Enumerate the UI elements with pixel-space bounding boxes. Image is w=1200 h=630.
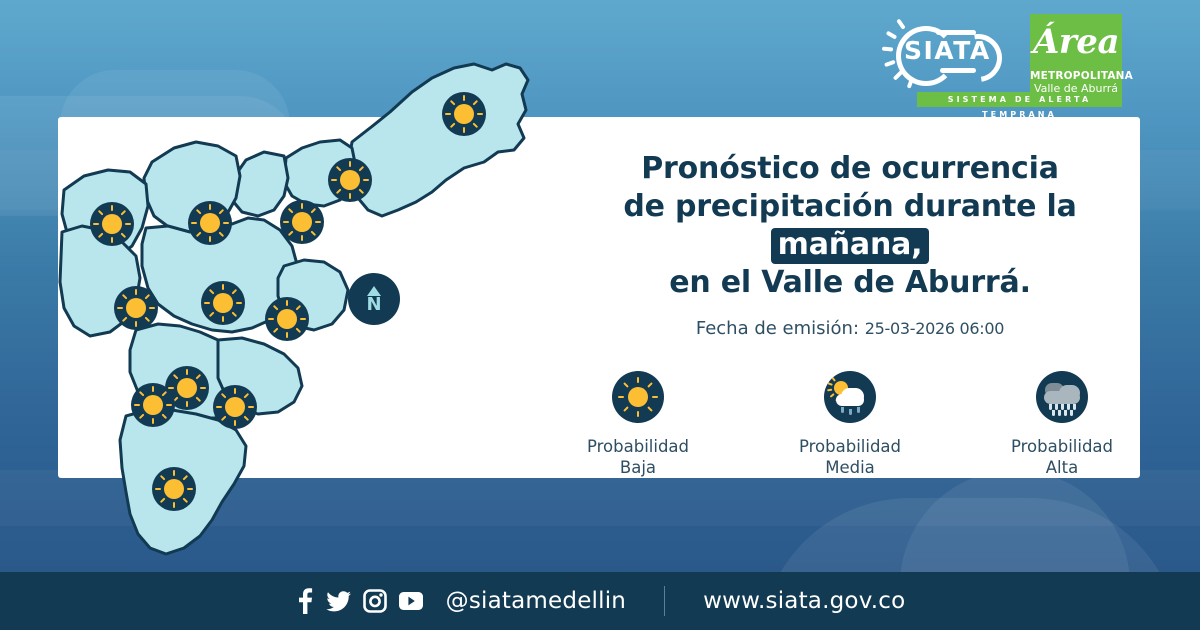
map-sun-marker-icon xyxy=(90,202,134,246)
sun-ray-icon xyxy=(152,386,154,392)
website-url[interactable]: www.siata.gov.co xyxy=(703,588,905,614)
sun-ray-icon xyxy=(209,311,215,317)
legend-item-media: Probabilidad Media xyxy=(784,371,916,478)
sun-ray-icon xyxy=(248,406,254,408)
sun-ray-icon xyxy=(152,418,154,424)
sun-ray-icon xyxy=(618,396,624,398)
sun-ray-icon xyxy=(216,406,222,408)
title-line-2-pre: de precipitación durante la xyxy=(623,189,1076,224)
sun-ray-icon xyxy=(884,60,896,68)
sun-ray-icon xyxy=(160,475,166,481)
sun-ray-icon xyxy=(358,166,364,172)
sun-ray-icon xyxy=(288,230,294,236)
raindrop-icon xyxy=(1064,410,1067,416)
sun-ray-icon xyxy=(186,401,188,407)
sun-ray-icon xyxy=(134,404,140,406)
raindrop-icon xyxy=(849,409,852,415)
valle-de-aburra-map: N xyxy=(40,20,560,600)
sun-ray-icon xyxy=(273,327,279,333)
instagram-icon[interactable] xyxy=(363,589,387,613)
sun-disc-icon xyxy=(277,309,297,329)
sun-disc-icon xyxy=(164,479,184,499)
raindrop-icon xyxy=(857,407,860,413)
compass-north-icon: N xyxy=(348,273,400,325)
sun-ray-icon xyxy=(623,406,629,412)
sun-disc-icon xyxy=(200,213,220,233)
sun-ray-icon xyxy=(286,300,288,306)
sun-ray-icon xyxy=(209,236,211,242)
sun-ray-icon xyxy=(111,237,113,243)
sun-ray-icon xyxy=(168,387,174,389)
sun-ray-icon xyxy=(218,231,224,237)
twitter-icon[interactable] xyxy=(326,588,352,614)
sun-ray-icon xyxy=(445,113,451,115)
page-title: Pronóstico de ocurrencia de precipitació… xyxy=(560,150,1140,302)
sun-ray-icon xyxy=(273,305,279,311)
sun-ray-icon xyxy=(160,497,166,503)
sun-disc-icon xyxy=(143,395,163,415)
sun-ray-icon xyxy=(647,406,653,412)
emission-label: Fecha de emisión: xyxy=(696,318,859,339)
sun-ray-icon xyxy=(349,161,351,167)
sun-disc-icon xyxy=(340,170,360,190)
sun-ray-icon xyxy=(125,223,131,225)
legend-label-baja: Probabilidad Baja xyxy=(587,436,689,478)
map-sun-marker-icon xyxy=(280,200,324,244)
siata-cloud-icon xyxy=(940,68,976,73)
sun-ray-icon xyxy=(450,100,456,106)
sun-ray-icon xyxy=(623,382,629,388)
map-sun-marker-icon xyxy=(328,158,372,202)
social-handle[interactable]: @siatamedellin xyxy=(446,588,626,614)
map-sun-marker-icon xyxy=(201,281,245,325)
forecast-content: Pronóstico de ocurrencia de precipitació… xyxy=(560,150,1140,478)
map-sun-marker-icon xyxy=(114,286,158,330)
sun-ray-icon xyxy=(139,391,145,397)
sun-ray-icon xyxy=(336,188,342,194)
sun-ray-icon xyxy=(310,208,316,214)
footer-bar: @siatamedellin www.siata.gov.co xyxy=(0,572,1200,630)
sun-ray-icon xyxy=(209,204,211,210)
sun-ray-icon xyxy=(637,411,639,417)
sun-ray-icon xyxy=(300,318,306,320)
sun-ray-icon xyxy=(301,235,303,241)
sun-ray-icon xyxy=(896,18,906,29)
emission-date: Fecha de emisión: 25-03-2026 06:00 xyxy=(560,318,1140,339)
sun-ray-icon xyxy=(652,396,658,398)
cloud-icon xyxy=(1044,391,1080,404)
sun-ray-icon xyxy=(182,475,188,481)
cloud-icon xyxy=(836,394,864,406)
legend-item-alta: Probabilidad Alta xyxy=(996,371,1128,478)
sun-ray-icon xyxy=(144,294,150,300)
sun-ray-icon xyxy=(830,393,835,398)
sun-ray-icon xyxy=(472,100,478,106)
sun-ray-icon xyxy=(195,396,201,402)
raindrop-icon xyxy=(1073,404,1076,410)
legend-label-line2: Alta xyxy=(1011,457,1113,478)
legend-label-line1: Probabilidad xyxy=(1011,436,1113,457)
sun-ray-icon xyxy=(223,222,229,224)
sun-ray-icon xyxy=(98,232,104,238)
sun-ray-icon xyxy=(463,127,465,133)
sun-ray-icon xyxy=(173,374,179,380)
sun-disc-icon xyxy=(292,212,312,232)
sun-ray-icon xyxy=(218,209,224,215)
legend-label-line2: Media xyxy=(799,457,901,478)
sun-ray-icon xyxy=(243,393,249,399)
sun-ray-icon xyxy=(647,382,653,388)
sun-ray-icon xyxy=(117,307,123,309)
siata-wordmark: SIATA xyxy=(904,36,991,65)
sun-ray-icon xyxy=(200,387,206,389)
sun-ray-icon xyxy=(204,302,210,304)
sun-ray-icon xyxy=(186,369,188,375)
sun-ray-icon xyxy=(122,316,128,322)
sun-ray-icon xyxy=(827,389,832,392)
sun-disc-icon xyxy=(454,104,474,124)
sun-ray-icon xyxy=(221,393,227,399)
sun-ray-icon xyxy=(472,122,478,128)
tagline-banner: SISTEMA DE ALERTA TEMPRANA xyxy=(917,92,1122,107)
sun-ray-icon xyxy=(144,316,150,322)
title-line-3: en el Valle de Aburrá. xyxy=(560,264,1140,302)
sun-ray-icon xyxy=(221,415,227,421)
sun-ray-icon xyxy=(191,222,197,224)
sun-ray-icon xyxy=(195,374,201,380)
map-sun-marker-icon xyxy=(152,467,196,511)
sun-ray-icon xyxy=(187,488,193,490)
sun-ray-icon xyxy=(231,289,237,295)
legend-label-media: Probabilidad Media xyxy=(799,436,901,478)
sun-ray-icon xyxy=(149,307,155,309)
footer-divider xyxy=(664,586,665,616)
map-municipality xyxy=(348,64,528,216)
infographic-root: SIATA Área METROPOLITANA Valle de Aburrá… xyxy=(0,0,1200,630)
sun-ray-icon xyxy=(831,377,836,382)
sun-disc-icon xyxy=(102,214,122,234)
legend-label-line1: Probabilidad xyxy=(587,436,689,457)
map-sun-marker-icon xyxy=(442,92,486,136)
sun-ray-icon xyxy=(358,188,364,194)
sun-disc-icon xyxy=(225,397,245,417)
sun-ray-icon xyxy=(135,289,137,295)
raindrop-icon xyxy=(1070,410,1073,416)
sun-ray-icon xyxy=(463,95,465,101)
social-links[interactable] xyxy=(295,588,424,614)
sun-ray-icon xyxy=(222,284,224,290)
sun-ray-icon xyxy=(886,31,898,40)
sun-ray-icon xyxy=(161,413,167,419)
sun-ray-icon xyxy=(283,221,289,223)
sun-ray-icon xyxy=(122,294,128,300)
sun-ray-icon xyxy=(243,415,249,421)
sun-ray-icon xyxy=(161,391,167,397)
sun-ray-icon xyxy=(231,311,237,317)
title-line-2: de precipitación durante la mañana, xyxy=(560,188,1140,264)
sun-ray-icon xyxy=(222,316,224,322)
sun-disc-icon xyxy=(126,298,146,318)
legend-item-baja: Probabilidad Baja xyxy=(572,371,704,478)
sun-ray-icon xyxy=(166,404,172,406)
sun-disc-icon xyxy=(213,293,233,313)
sun-ray-icon xyxy=(135,321,137,327)
sun-ray-icon xyxy=(477,113,483,115)
sun-ray-icon xyxy=(236,302,242,304)
sun-ray-icon xyxy=(155,488,161,490)
youtube-icon[interactable] xyxy=(398,591,424,611)
title-highlight-periodo: mañana, xyxy=(771,228,930,264)
sun-ray-icon xyxy=(120,210,126,216)
sun-ray-icon xyxy=(139,413,145,419)
siata-logo: SIATA xyxy=(866,14,1016,88)
legend-label-line2: Baja xyxy=(587,457,689,478)
sun-ray-icon xyxy=(882,47,893,52)
sun-ray-icon xyxy=(196,231,202,237)
sun-ray-icon xyxy=(182,497,188,503)
area-script-text: Área xyxy=(1030,22,1122,62)
sun-ray-icon xyxy=(196,209,202,215)
sun-ray-icon xyxy=(234,420,236,426)
sun-ray-icon xyxy=(98,210,104,216)
sun-ray-icon xyxy=(331,179,337,181)
sun-ray-icon xyxy=(93,223,99,225)
sun-ray-icon xyxy=(268,318,274,320)
sun-icon xyxy=(612,371,664,423)
sun-ray-icon xyxy=(450,122,456,128)
cloud-rain-icon xyxy=(1036,371,1088,423)
title-line-1: Pronóstico de ocurrencia xyxy=(560,150,1140,188)
sun-ray-icon xyxy=(173,502,175,508)
map-sun-marker-icon xyxy=(188,201,232,245)
sun-ray-icon xyxy=(363,179,369,181)
sun-ray-icon xyxy=(828,382,833,386)
sun-ray-icon xyxy=(286,332,288,338)
sun-ray-icon xyxy=(295,327,301,333)
sun-disc-icon xyxy=(628,387,648,407)
sun-ray-icon xyxy=(288,208,294,214)
area-metropolitana-logo: Área METROPOLITANA Valle de Aburrá xyxy=(1030,14,1122,100)
facebook-icon[interactable] xyxy=(295,588,315,614)
sun-ray-icon xyxy=(301,203,303,209)
sun-ray-icon xyxy=(295,305,301,311)
emission-value: 25-03-2026 06:00 xyxy=(865,319,1004,338)
raindrop-icon xyxy=(1058,410,1061,416)
sun-ray-icon xyxy=(234,388,236,394)
sun-ray-icon xyxy=(120,232,126,238)
raindrop-icon xyxy=(1052,410,1055,416)
sun-ray-icon xyxy=(315,221,321,223)
map-sun-marker-icon xyxy=(213,385,257,429)
area-line1: METROPOLITANA xyxy=(1030,70,1122,82)
brand-logos: SIATA Área METROPOLITANA Valle de Aburrá xyxy=(866,14,1122,100)
compass-letter: N xyxy=(366,297,381,313)
map-municipality xyxy=(232,152,288,216)
sun-disc-icon xyxy=(177,378,197,398)
map-sun-marker-icon xyxy=(265,297,309,341)
sun-cloud-rain-icon xyxy=(824,371,876,423)
sun-ray-icon xyxy=(637,377,639,383)
sun-ray-icon xyxy=(173,470,175,476)
probability-legend: Probabilidad Baja Probabilidad Media xyxy=(560,371,1140,478)
sun-ray-icon xyxy=(336,166,342,172)
sun-ray-icon xyxy=(310,230,316,236)
legend-label-line1: Probabilidad xyxy=(799,436,901,457)
sun-ray-icon xyxy=(209,289,215,295)
legend-label-alta: Probabilidad Alta xyxy=(1011,436,1113,478)
map-sun-marker-icon xyxy=(131,383,175,427)
sun-ray-icon xyxy=(349,193,351,199)
raindrop-icon xyxy=(841,407,844,413)
sun-ray-icon xyxy=(111,205,113,211)
